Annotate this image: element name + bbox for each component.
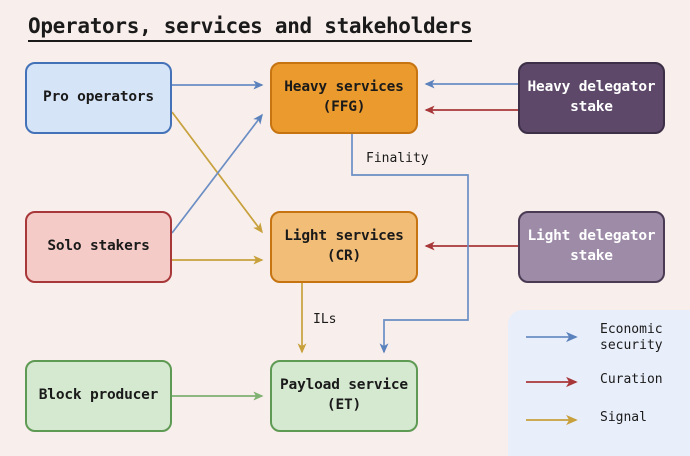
node-block-producer[interactable]: Block producer (25, 360, 172, 432)
legend-label-economic-security: Economic security (600, 322, 663, 355)
node-solo-stakers[interactable]: Solo stakers (25, 211, 172, 283)
edge-label-finality: Finality (366, 151, 429, 166)
diagram-canvas: Operators, services and stakeholders (0, 0, 690, 456)
node-pro-operators[interactable]: Pro operators (25, 62, 172, 134)
edge-solo-stakers-to-heavy-services (172, 115, 262, 233)
node-heavy-services[interactable]: Heavy services (FFG) (270, 62, 418, 134)
node-light-services[interactable]: Light services (CR) (270, 211, 418, 283)
edge-label-ils: ILs (313, 312, 336, 327)
page-title: Operators, services and stakeholders (28, 14, 472, 42)
legend-arrow-layer (508, 310, 690, 456)
node-heavy-delegator-stake[interactable]: Heavy delegator stake (518, 62, 665, 134)
node-payload-service[interactable]: Payload service (ET) (270, 360, 418, 432)
legend-panel: Economic security Curation Signal (508, 310, 690, 456)
edge-pro-operators-to-light-services (172, 112, 262, 232)
node-light-delegator-stake[interactable]: Light delegator stake (518, 211, 665, 283)
legend-label-curation: Curation (600, 372, 663, 388)
legend-label-signal: Signal (600, 410, 647, 426)
